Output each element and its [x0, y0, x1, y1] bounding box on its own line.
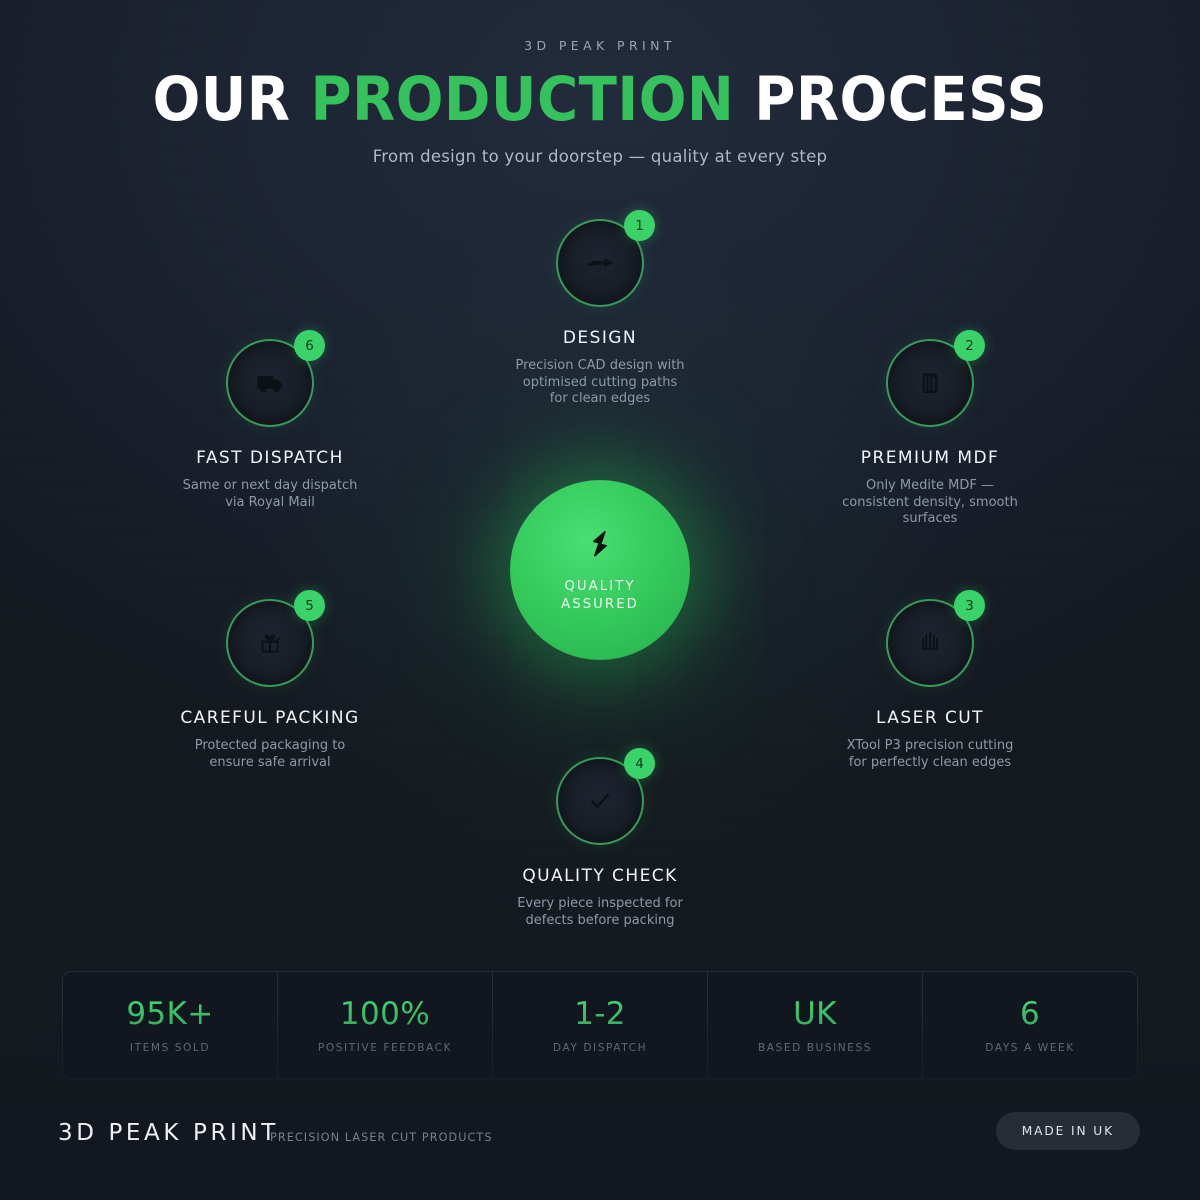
- step-circle-wrap: 4: [556, 757, 644, 845]
- process-step-careful-packing[interactable]: 5 CAREFUL PACKING Protected packaging to…: [120, 599, 420, 771]
- stat-value: 95K+: [126, 996, 213, 1032]
- hub-label-line1: QUALITY: [564, 578, 635, 595]
- process-step-quality-check[interactable]: 4 QUALITY CHECK Every piece inspected fo…: [450, 757, 750, 929]
- process-step-premium-mdf[interactable]: 2 PREMIUM MDF Only Medite MDF — consiste…: [780, 339, 1080, 528]
- stat-label: POSITIVE FEEDBACK: [318, 1042, 452, 1054]
- step-description: Every piece inspected for defects before…: [450, 896, 750, 929]
- process-step-laser-cut[interactable]: 3 LASER CUT XTool P3 precision cutting f…: [780, 599, 1080, 771]
- title-highlight: PRODUCTION: [310, 64, 734, 135]
- laser-beam-icon: [915, 628, 945, 658]
- step-circle-wrap: 1: [556, 219, 644, 307]
- hub-label-line2: ASSURED: [561, 596, 639, 613]
- stat-days-a-week: 6 DAYS A WEEK: [923, 972, 1137, 1078]
- page-header: 3D PEAK PRINT OUR PRODUCTION PROCESS Fro…: [0, 0, 1200, 166]
- brand-eyebrow: 3D PEAK PRINT: [0, 38, 1200, 53]
- step-number-badge: 2: [954, 330, 985, 361]
- wood-panel-icon: [915, 368, 945, 398]
- stat-label: DAY DISPATCH: [553, 1042, 647, 1054]
- step-title: PREMIUM MDF: [780, 448, 1080, 468]
- step-description: Same or next day dispatch via Royal Mail: [120, 478, 420, 511]
- pencil-icon: [585, 248, 615, 278]
- page-subtitle: From design to your doorstep — quality a…: [0, 147, 1200, 166]
- stat-items-sold: 95K+ ITEMS SOLD: [63, 972, 278, 1078]
- step-circle-wrap: 5: [226, 599, 314, 687]
- step-title: FAST DISPATCH: [120, 448, 420, 468]
- step-title: QUALITY CHECK: [450, 866, 750, 886]
- step-description: XTool P3 precision cutting for perfectly…: [780, 738, 1080, 771]
- process-step-fast-dispatch[interactable]: 6 FAST DISPATCH Same or next day dispatc…: [120, 339, 420, 511]
- stat-value: 6: [1020, 996, 1040, 1032]
- step-number-badge: 3: [954, 590, 985, 621]
- title-part-two: PROCESS: [734, 64, 1047, 135]
- step-circle-wrap: 6: [226, 339, 314, 427]
- footer-tagline: PRECISION LASER CUT PRODUCTS: [270, 1131, 493, 1144]
- step-title: LASER CUT: [780, 708, 1080, 728]
- stat-based-business: UK BASED BUSINESS: [708, 972, 923, 1078]
- title-part-one: OUR: [153, 64, 311, 135]
- stat-value: UK: [793, 996, 837, 1032]
- process-step-design[interactable]: 1 DESIGN Precision CAD design with optim…: [450, 219, 750, 408]
- step-circle-wrap: 2: [886, 339, 974, 427]
- step-number-badge: 1: [624, 210, 655, 241]
- stat-value: 1-2: [574, 996, 626, 1032]
- delivery-truck-icon: [255, 368, 285, 398]
- quality-assured-hub[interactable]: QUALITY ASSURED: [510, 480, 690, 660]
- step-title: DESIGN: [450, 328, 750, 348]
- made-in-uk-badge[interactable]: MADE IN UK: [996, 1112, 1140, 1150]
- stat-positive-feedback: 100% POSITIVE FEEDBACK: [278, 972, 493, 1078]
- stat-label: DAYS A WEEK: [985, 1042, 1074, 1054]
- step-description: Only Medite MDF — consistent density, sm…: [780, 478, 1080, 528]
- step-circle-wrap: 3: [886, 599, 974, 687]
- checkmark-icon: [585, 786, 615, 816]
- step-number-badge: 5: [294, 590, 325, 621]
- page-footer: 3D PEAK PRINT PRECISION LASER CUT PRODUC…: [0, 1090, 1200, 1200]
- lightning-bolt-icon: [583, 527, 617, 565]
- stat-day-dispatch: 1-2 DAY DISPATCH: [493, 972, 708, 1078]
- gift-box-icon: [255, 628, 285, 658]
- stat-label: ITEMS SOLD: [130, 1042, 210, 1054]
- step-description: Protected packaging to ensure safe arriv…: [120, 738, 420, 771]
- stats-bar: 95K+ ITEMS SOLD 100% POSITIVE FEEDBACK 1…: [62, 971, 1138, 1079]
- stat-label: BASED BUSINESS: [758, 1042, 872, 1054]
- step-number-badge: 6: [294, 330, 325, 361]
- step-number-badge: 4: [624, 748, 655, 779]
- footer-brand: 3D PEAK PRINT: [58, 1120, 279, 1146]
- step-title: CAREFUL PACKING: [120, 708, 420, 728]
- step-description: Precision CAD design with optimised cutt…: [450, 358, 750, 408]
- stat-value: 100%: [340, 996, 430, 1032]
- page-title: OUR PRODUCTION PROCESS: [48, 69, 1152, 131]
